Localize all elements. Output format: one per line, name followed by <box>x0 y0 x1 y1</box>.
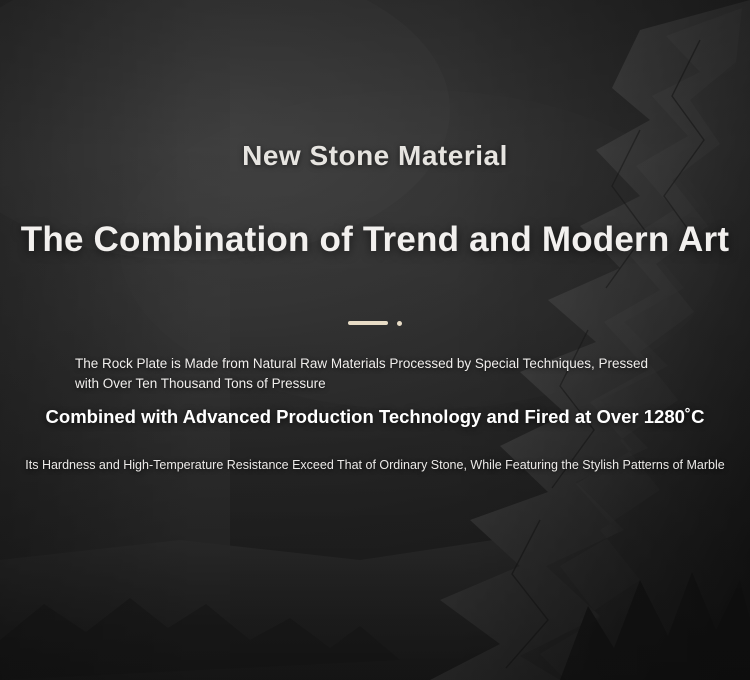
divider-dot-icon <box>397 321 402 326</box>
hero-eyebrow: New Stone Material <box>0 140 750 172</box>
hero-body-line-1: The Rock Plate is Made from Natural Raw … <box>75 354 675 393</box>
hero-body-line-2: Combined with Advanced Production Techno… <box>0 406 750 428</box>
hero-body-line-3: Its Hardness and High-Temperature Resist… <box>0 458 750 472</box>
hero-headline: The Combination of Trend and Modern Art <box>0 220 750 260</box>
hero-banner: New Stone Material The Combination of Tr… <box>0 0 750 680</box>
hero-content: New Stone Material The Combination of Tr… <box>0 0 750 680</box>
divider-bar-icon <box>348 321 388 325</box>
divider-ornament <box>0 316 750 330</box>
